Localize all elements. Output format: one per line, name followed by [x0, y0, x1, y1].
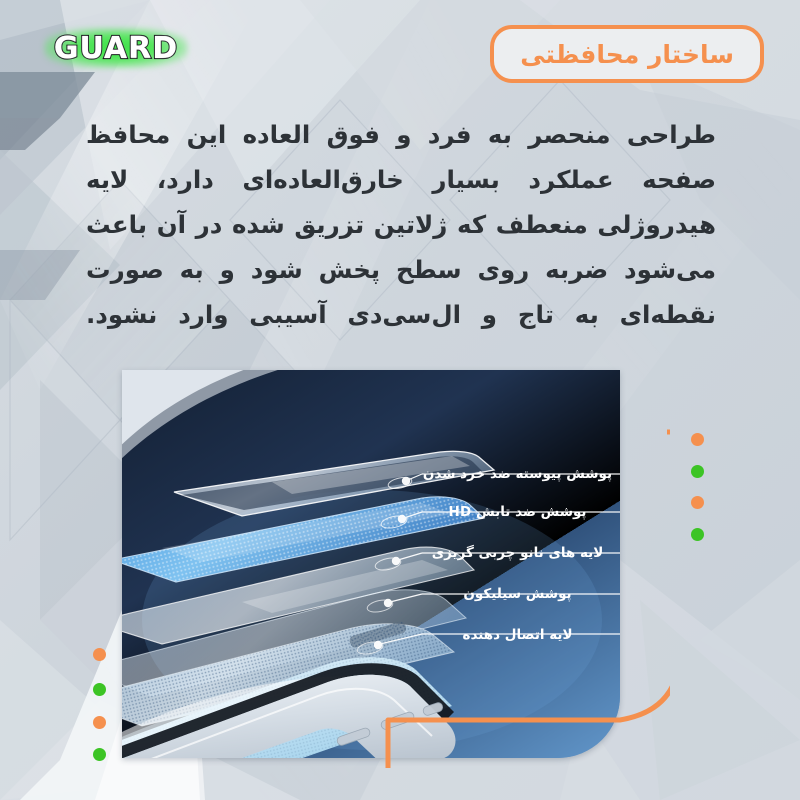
layer-label-4: پوشش سیلیکون — [395, 586, 640, 602]
page-title: ساختار محافظتی — [520, 40, 734, 69]
description-block: طراحی منحصر به فرد و فوق العاده این محاف… — [86, 112, 716, 337]
accent-dot-right-4 — [691, 528, 704, 541]
accent-dot-right-1 — [691, 433, 704, 446]
description-text: طراحی منحصر به فرد و فوق العاده این محاف… — [86, 112, 716, 337]
accent-dot-left-2 — [93, 683, 106, 696]
section-title-badge: ساختار محافظتی — [490, 25, 764, 83]
accent-dot-right-2 — [691, 465, 704, 478]
layer-label-5: لایه اتصال دهنده — [395, 627, 640, 643]
product-illustration-panel — [122, 370, 620, 758]
brand-logo: GUARD — [36, 24, 196, 72]
accent-dot-right-3 — [691, 496, 704, 509]
accent-dot-left-3 — [93, 716, 106, 729]
logo-text: GUARD — [54, 31, 178, 66]
layer-label-1: پوشش پیوسته ضد خرد شدن — [395, 466, 640, 482]
layer-label-3: لایه های نانو چربی گریزی — [395, 545, 640, 561]
layer-label-2: پوشش ضد تابش HD — [395, 504, 640, 520]
screen-protector-exploded-diagram — [122, 370, 620, 758]
accent-dot-left-1 — [93, 648, 106, 661]
accent-dot-left-4 — [93, 748, 106, 761]
